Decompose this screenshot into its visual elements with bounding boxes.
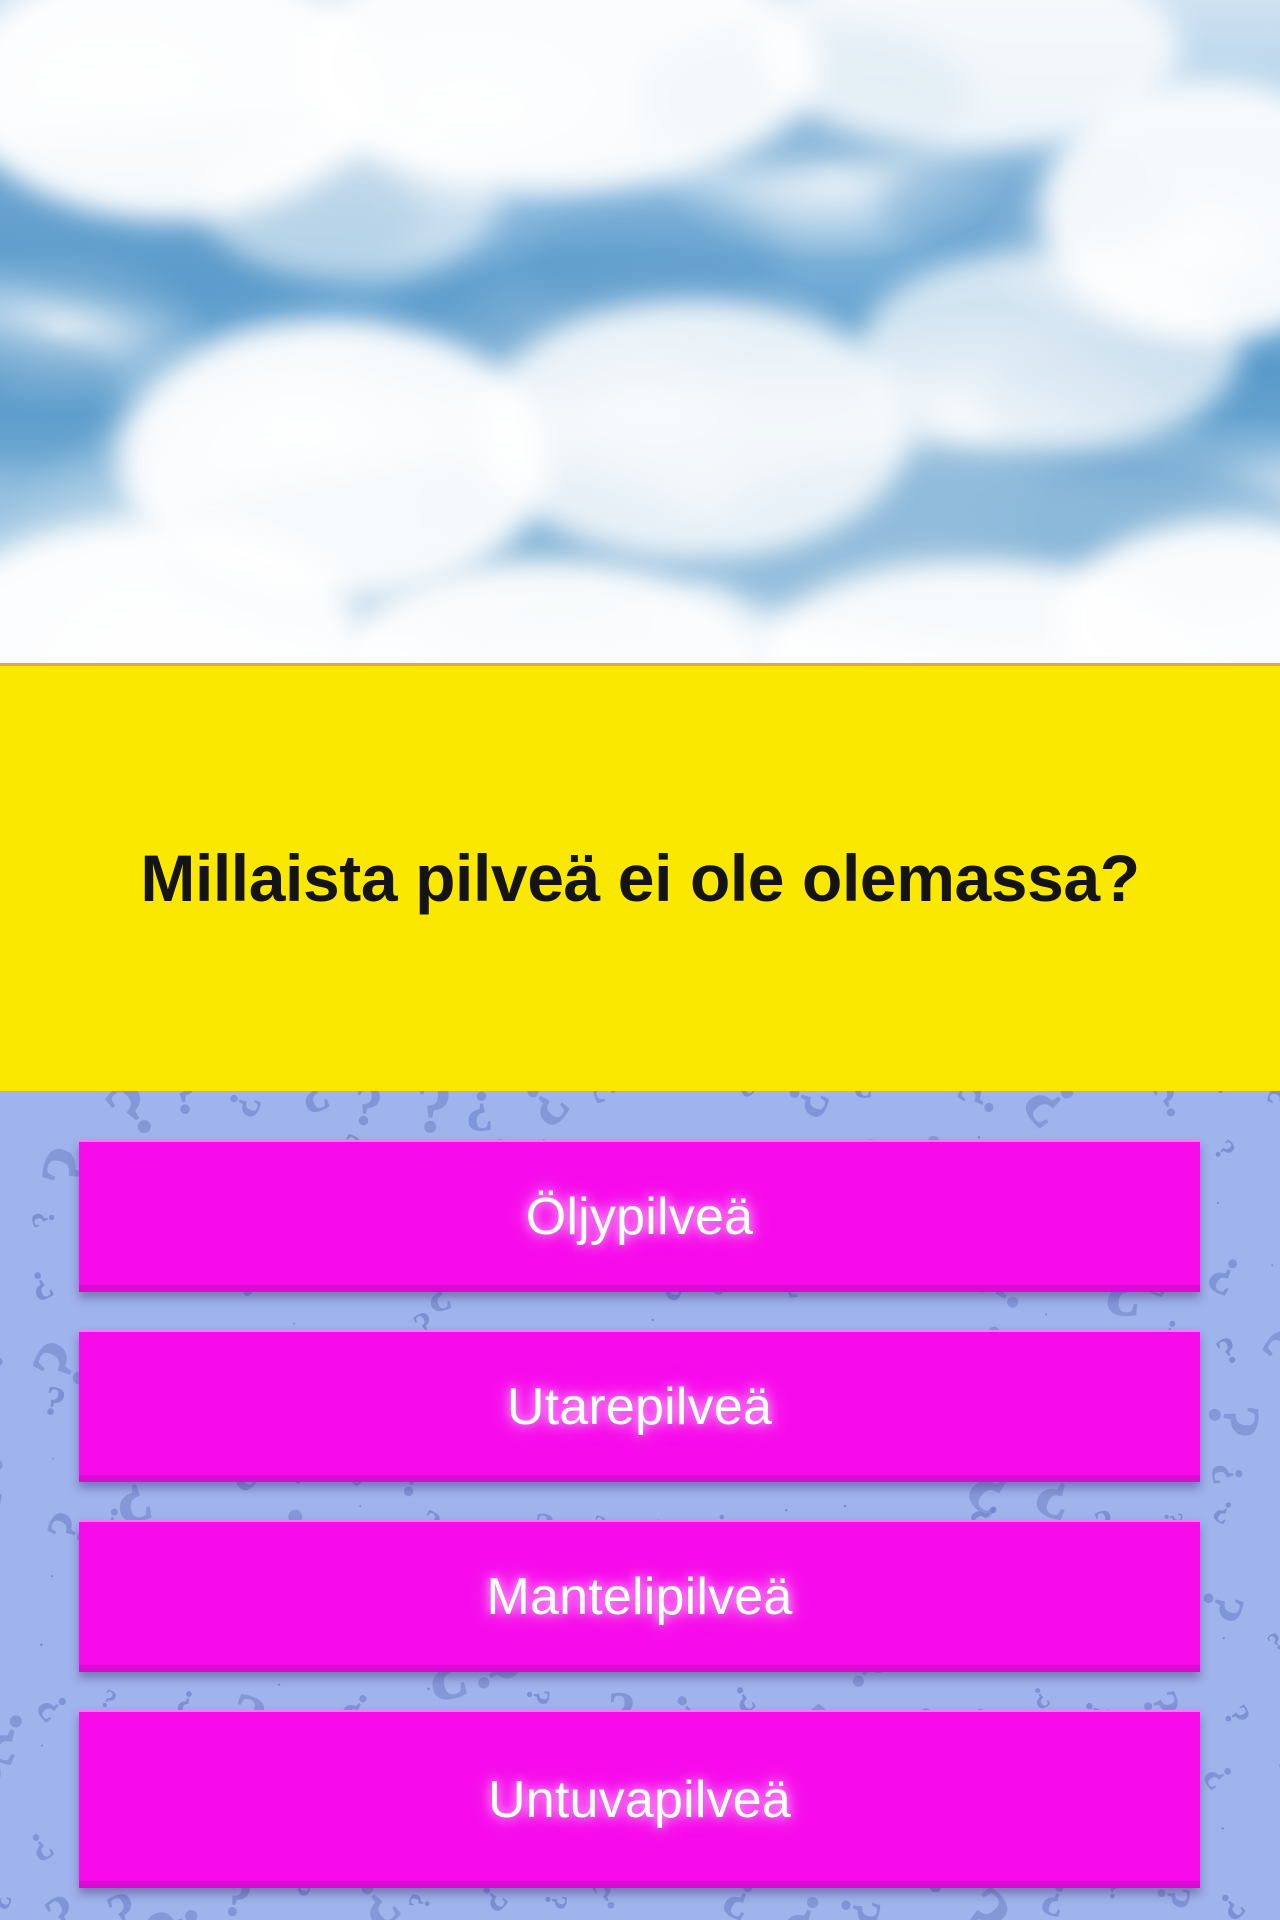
question-mark-glyph: . [1265, 1263, 1276, 1267]
question-mark-glyph: ? [219, 1091, 270, 1125]
question-mark-glyph: ? [0, 1644, 8, 1681]
question-mark-glyph: ? [28, 1685, 77, 1730]
question-mark-glyph: ? [26, 1206, 62, 1230]
question-mark-glyph: ? [727, 1091, 761, 1103]
question-mark-glyph: ? [774, 1091, 840, 1128]
answers-panel: ?.?????????.???.??.????????????..?????.?… [0, 1091, 1280, 1920]
question-mark-glyph: ? [1273, 1752, 1280, 1778]
question-mark-glyph: ? [0, 1446, 15, 1516]
question-mark-glyph: ? [1248, 1316, 1280, 1393]
question-mark-glyph: ? [1210, 1885, 1252, 1920]
quiz-screen: Millaista pilveä ei ole olemassa? ?.????… [0, 0, 1280, 1920]
question-mark-glyph: ? [289, 1091, 335, 1125]
question-mark-glyph: . [648, 1309, 656, 1324]
question-mark-glyph: ? [1217, 1700, 1256, 1732]
question-mark-glyph: ? [1194, 1397, 1272, 1444]
question-band: Millaista pilveä ei ole olemassa? [0, 663, 1280, 1091]
question-mark-glyph: . [842, 1500, 850, 1515]
question-mark-glyph: ? [22, 1262, 59, 1309]
question-mark-glyph: . [1215, 1819, 1227, 1832]
question-mark-glyph: ? [539, 1892, 573, 1912]
question-mark-glyph: ? [1198, 1244, 1249, 1306]
question-mark-glyph: ? [166, 1091, 204, 1125]
question-mark-glyph: ? [1274, 1513, 1280, 1537]
question-mark-glyph: . [1214, 1636, 1228, 1641]
question-mark-glyph: ? [827, 1890, 890, 1920]
question-mark-glyph: ? [581, 1091, 643, 1109]
question-mark-glyph: . [1042, 1310, 1053, 1318]
answer-option-2[interactable]: Utarepilveä [79, 1330, 1200, 1482]
question-mark-glyph: ? [0, 1575, 8, 1619]
answer-option-1[interactable]: Öljypilveä [79, 1140, 1200, 1292]
question-mark-glyph: ? [465, 1091, 494, 1140]
question-mark-glyph: ? [130, 1889, 215, 1920]
answer-option-4-label: Untuvapilveä [488, 1770, 791, 1830]
question-mark-glyph: . [276, 1681, 285, 1693]
question-mark-glyph: ? [0, 1396, 7, 1425]
question-mark-glyph: . [49, 1457, 59, 1462]
question-mark-glyph: ? [39, 1379, 69, 1424]
question-mark-glyph: ? [508, 1091, 582, 1139]
question-mark-glyph: ? [413, 1091, 454, 1147]
answer-option-1-label: Öljypilveä [526, 1187, 753, 1247]
question-mark-glyph: ? [1211, 1329, 1247, 1372]
question-mark-glyph: ? [853, 1091, 874, 1103]
question-mark-glyph: ? [1199, 1091, 1232, 1101]
question-mark-glyph: ? [0, 1323, 18, 1379]
question-mark-glyph: . [31, 1641, 46, 1650]
answer-option-4[interactable]: Untuvapilveä [79, 1710, 1200, 1888]
question-mark-glyph: . [287, 1322, 298, 1325]
question-mark-glyph: . [355, 1499, 362, 1510]
question-mark-glyph: . [1211, 1200, 1223, 1205]
question-mark-glyph: ? [1008, 1091, 1092, 1141]
question-mark-glyph: ? [0, 1888, 18, 1914]
answer-option-2-label: Utarepilveä [507, 1377, 772, 1437]
question-mark-glyph: ? [1208, 1493, 1239, 1530]
question-mark-glyph: ? [947, 1091, 1009, 1125]
question-mark-glyph: ? [20, 1823, 59, 1868]
question-mark-glyph: ? [1259, 1091, 1280, 1115]
question-mark-glyph: ? [1146, 1091, 1188, 1128]
question-mark-glyph: . [50, 1567, 55, 1580]
question-mark-glyph: ? [1204, 1460, 1251, 1487]
question-mark-glyph: ? [520, 1686, 555, 1707]
question-mark-glyph: ? [0, 1764, 7, 1787]
answer-option-3-label: Mantelipilveä [486, 1567, 792, 1627]
cloud-photo-hero [0, 0, 1280, 663]
question-mark-glyph: . [777, 1501, 790, 1515]
question-mark-glyph: . [648, 1091, 662, 1092]
question-mark-glyph: . [38, 1743, 51, 1750]
question-mark-glyph: ? [403, 1890, 436, 1911]
question-mark-glyph: ? [36, 1884, 89, 1920]
question-mark-glyph: ? [1208, 1135, 1241, 1166]
question-mark-glyph: ? [1263, 1628, 1280, 1657]
question-text: Millaista pilveä ei ole olemassa? [13, 842, 1267, 915]
answer-option-3[interactable]: Mantelipilveä [79, 1520, 1200, 1672]
question-mark-glyph: ? [1195, 1756, 1242, 1797]
question-mark-glyph: . [974, 1135, 989, 1139]
